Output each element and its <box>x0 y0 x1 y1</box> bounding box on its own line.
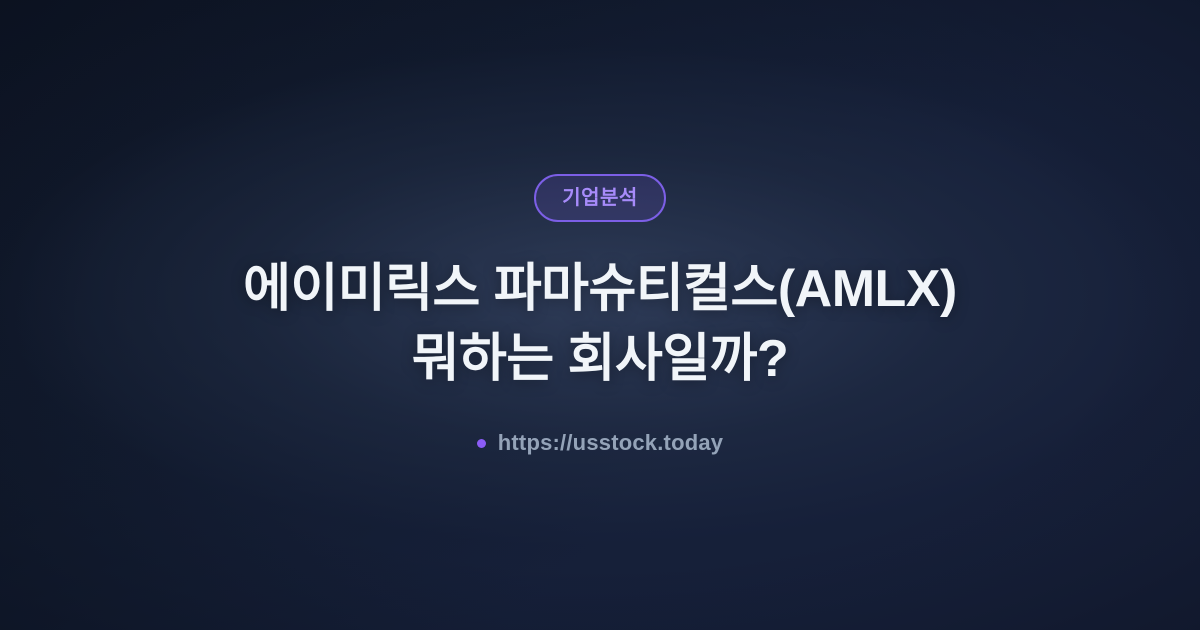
card-content: 기업분석 에이미릭스 파마슈티컬스(AMLX) 뭐하는 회사일까? https:… <box>0 0 1200 630</box>
page-title: 에이미릭스 파마슈티컬스(AMLX) 뭐하는 회사일까? <box>243 254 957 394</box>
bullet-dot-icon <box>477 439 486 448</box>
site-url-label: https://usstock.today <box>498 430 723 456</box>
category-badge: 기업분석 <box>534 174 666 222</box>
site-url: https://usstock.today <box>477 430 723 456</box>
og-share-card: 기업분석 에이미릭스 파마슈티컬스(AMLX) 뭐하는 회사일까? https:… <box>0 0 1200 630</box>
page-title-line-2: 뭐하는 회사일까? <box>243 324 957 394</box>
page-title-line-1: 에이미릭스 파마슈티컬스(AMLX) <box>243 254 957 324</box>
